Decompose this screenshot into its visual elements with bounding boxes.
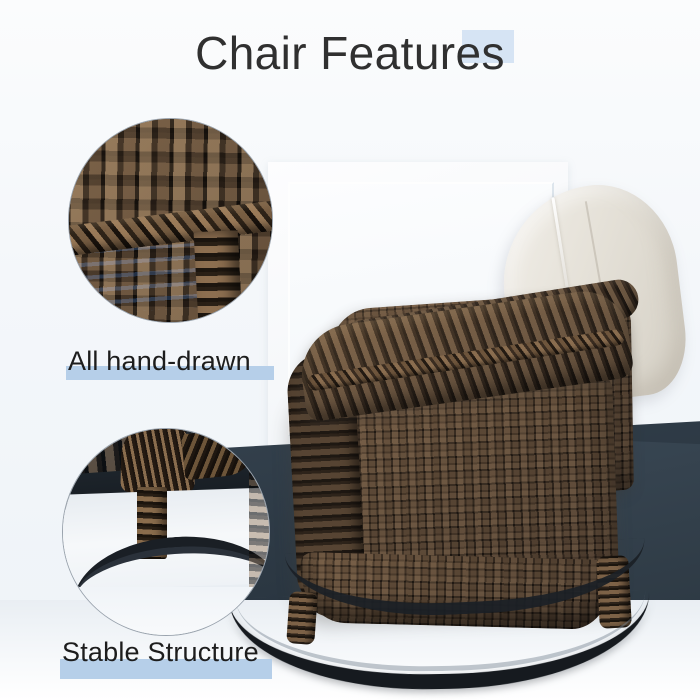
page-title: Chair Features xyxy=(0,26,700,81)
callout-circle-stable-structure xyxy=(62,428,270,636)
macro-weave-blue-gaps xyxy=(77,243,201,315)
callout-label-hand-drawn: All hand-drawn xyxy=(68,346,251,377)
callout-label-stable-structure: Stable Structure xyxy=(62,637,259,668)
product-feature-image: Chair Features All hand-drawn Stable Str… xyxy=(0,0,700,700)
inset-floor-foreground xyxy=(62,587,270,636)
macro-corner-post xyxy=(194,230,245,323)
callout-circle-hand-drawn xyxy=(68,118,273,323)
